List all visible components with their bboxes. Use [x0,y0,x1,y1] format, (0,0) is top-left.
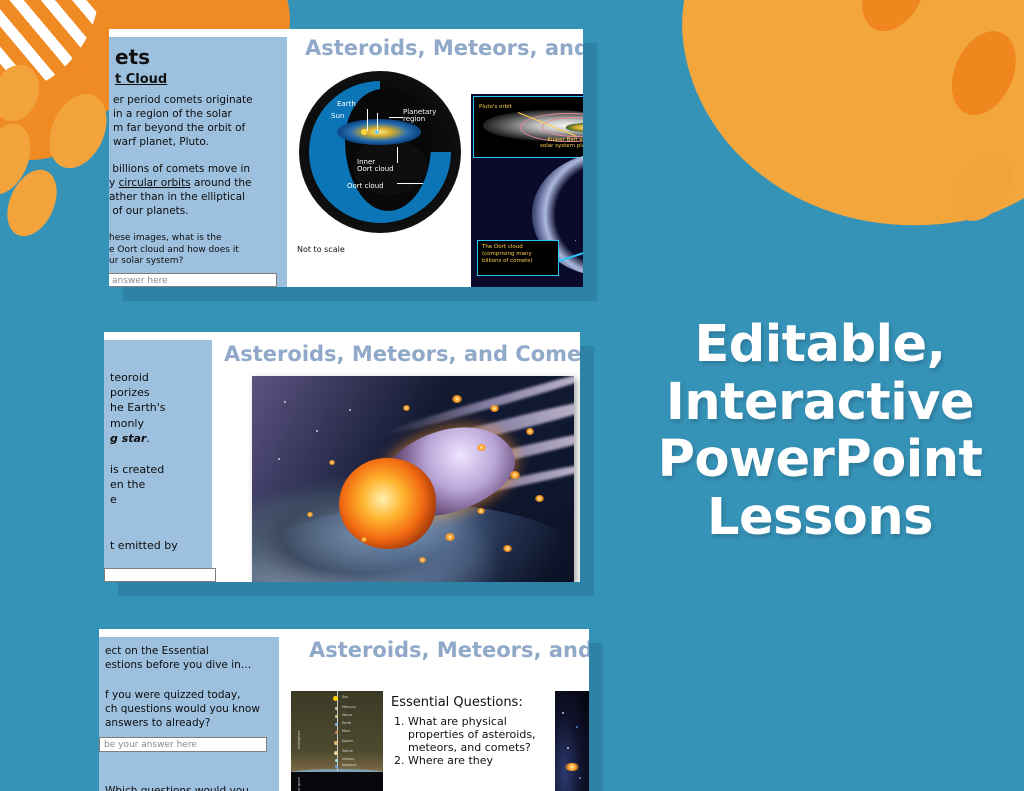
slide2-bold-italic-phrase: g star [110,432,146,445]
star [316,430,318,432]
ember [445,533,455,541]
slide2-text-panel: teoroidporizeshe Earth'smonlyg star. is … [104,340,212,582]
slide1-answer-input[interactable]: answer here [109,273,277,287]
slide1-subheading: t Cloud [115,72,167,87]
crater [850,0,938,42]
kuiper-top-panel: Pluto's orbit Kuiper Belt andsolar syste… [473,96,583,158]
interstellar-starfield [291,772,383,791]
axis-label-heliosphere: heliosphere [297,730,301,749]
essential-questions-heading: Essential Questions: [391,695,551,710]
label-oort-cloud: Oort cloud [347,183,384,190]
slide2-answer-input[interactable] [104,568,216,582]
planet-label-venus: Venus [342,713,352,717]
planet-label-jupiter: Jupiter [342,739,353,743]
ember [503,545,512,552]
planet-marker [334,751,338,755]
headline: Editable, Interactive PowerPoint Lessons [620,316,1020,547]
planet-label-neptune: Neptune [342,763,357,767]
headline-line-2: Interactive [620,374,1020,432]
label-planetary-region: Planetaryregion [403,109,436,124]
star [576,726,578,728]
leader-line [377,113,378,131]
confetti-oval [0,58,47,128]
axis-label-interstellar-space: interstellar space [297,777,301,791]
slide3-paragraph-2: f you were quizzed today,ch questions wo… [105,689,285,731]
slide-card-meteor[interactable]: teoroidporizeshe Earth'smonlyg star. is … [104,332,580,582]
planet-marker [335,715,338,718]
slide-card-oort-cloud[interactable]: ets t Cloud er period comets originatein… [109,29,583,287]
planet-marker [335,707,338,710]
ember [307,512,313,517]
confetti-oval [38,85,117,177]
confetti-oval [942,141,1024,232]
pluto-orbit-label: Pluto's orbit [479,104,512,110]
headline-line-1: Editable, [620,316,1020,374]
star [562,712,564,714]
meteor-fireball [339,458,436,549]
diagram-caption: Not to scale [297,245,345,254]
slide3-title: Asteroids, Meteors, and [309,638,589,662]
slide1-title: Asteroids, Meteors, and [305,36,583,60]
ember [535,495,544,502]
planet-label-saturn: Saturn [342,749,353,753]
slide2-paragraph-1: teoroidporizeshe Earth'smonlyg star. [110,370,220,446]
planet-marker [335,765,338,768]
star [284,401,286,403]
label-inner-oort-cloud: InnerOort cloud [357,159,394,174]
essential-questions-block: Essential Questions: What are physical p… [391,695,551,768]
slide3-answer-input[interactable]: be your answer here [99,737,267,752]
slide3-text-panel: ect on the Essentialestions before you d… [99,637,279,791]
planet-label-earth: Earth [342,721,351,725]
planet-label-mercury: Mercury [342,705,356,709]
slide1-paragraph-3: hese images, what is thee Oort cloud and… [109,233,297,268]
ember [452,395,462,403]
planet-label-mars: Mars [342,729,350,733]
sun-marker [333,696,338,701]
planet-marker [334,741,338,745]
meteor-photo [252,376,574,582]
label-sun: Sun [331,113,344,120]
title-swoosh [104,332,580,340]
ember [403,405,410,411]
slide1-paragraph-1: er period comets originatein a region of… [113,94,291,149]
leader-line [397,183,423,184]
star [575,240,576,241]
comet-glow [565,763,579,771]
question-item: What are physical properties of asteroid… [408,716,551,755]
star [278,458,280,460]
slide1-paragraph-2: billions of comets move iny circular orb… [109,163,295,218]
planet-marker [335,723,338,726]
asteroid-icon [652,0,1024,263]
slide2-paragraph-2: is createden thee [110,462,220,508]
slide2-paragraph-3: t emitted by [110,538,220,553]
slide1-heading: ets [115,45,150,69]
kuiper-belt-inset: Pluto's orbit Kuiper Belt andsolar syste… [471,94,583,287]
slide-card-essential-questions[interactable]: ect on the Essentialestions before you d… [99,629,589,791]
ember [329,460,335,465]
comet-photo [555,691,589,791]
ember [526,428,534,435]
planet-marker [335,759,338,762]
headline-line-3: PowerPoint [620,431,1020,489]
title-swoosh [99,629,589,637]
leader-line [389,117,403,118]
label-earth: Earth [337,101,356,108]
oort-cloud-callout: The Oort cloud(comprising manybillions o… [477,240,559,276]
ember [490,405,499,412]
leader-line [367,109,368,131]
crater [1020,0,1024,40]
planet-marker [335,731,338,734]
slide2-title: Asteroids, Meteors, and Comets [224,342,580,366]
slide1-text-panel: ets t Cloud er period comets originatein… [109,37,287,287]
slide3-paragraph-1: ect on the Essentialestions before you d… [105,645,283,673]
planet-label-sun: Sun [342,695,348,699]
poster-canvas: Editable, Interactive PowerPoint Lessons… [0,0,1024,791]
slide1-underlined-phrase: circular orbits [119,177,191,189]
star [567,747,569,749]
essential-questions-list: What are physical properties of asteroid… [391,716,551,768]
slide3-trailing-text: Which questions would you [105,785,283,791]
crater [939,21,1024,125]
kuiper-belt-label: Kuiper Belt andsolar system planets [540,137,583,150]
planet-label-uranus: Uranus [342,757,354,761]
oort-cloud-diagram: Earth Sun Planetaryregion InnerOort clou… [293,65,473,285]
leader-line [397,147,398,163]
star [349,409,351,411]
ember [510,471,520,479]
star [579,777,581,779]
headline-line-4: Lessons [620,489,1020,547]
solar-system-scale-image: Sun Mercury Venus Earth Mars Jupiter Sat… [291,691,383,791]
question-item: Where are they [408,755,551,768]
